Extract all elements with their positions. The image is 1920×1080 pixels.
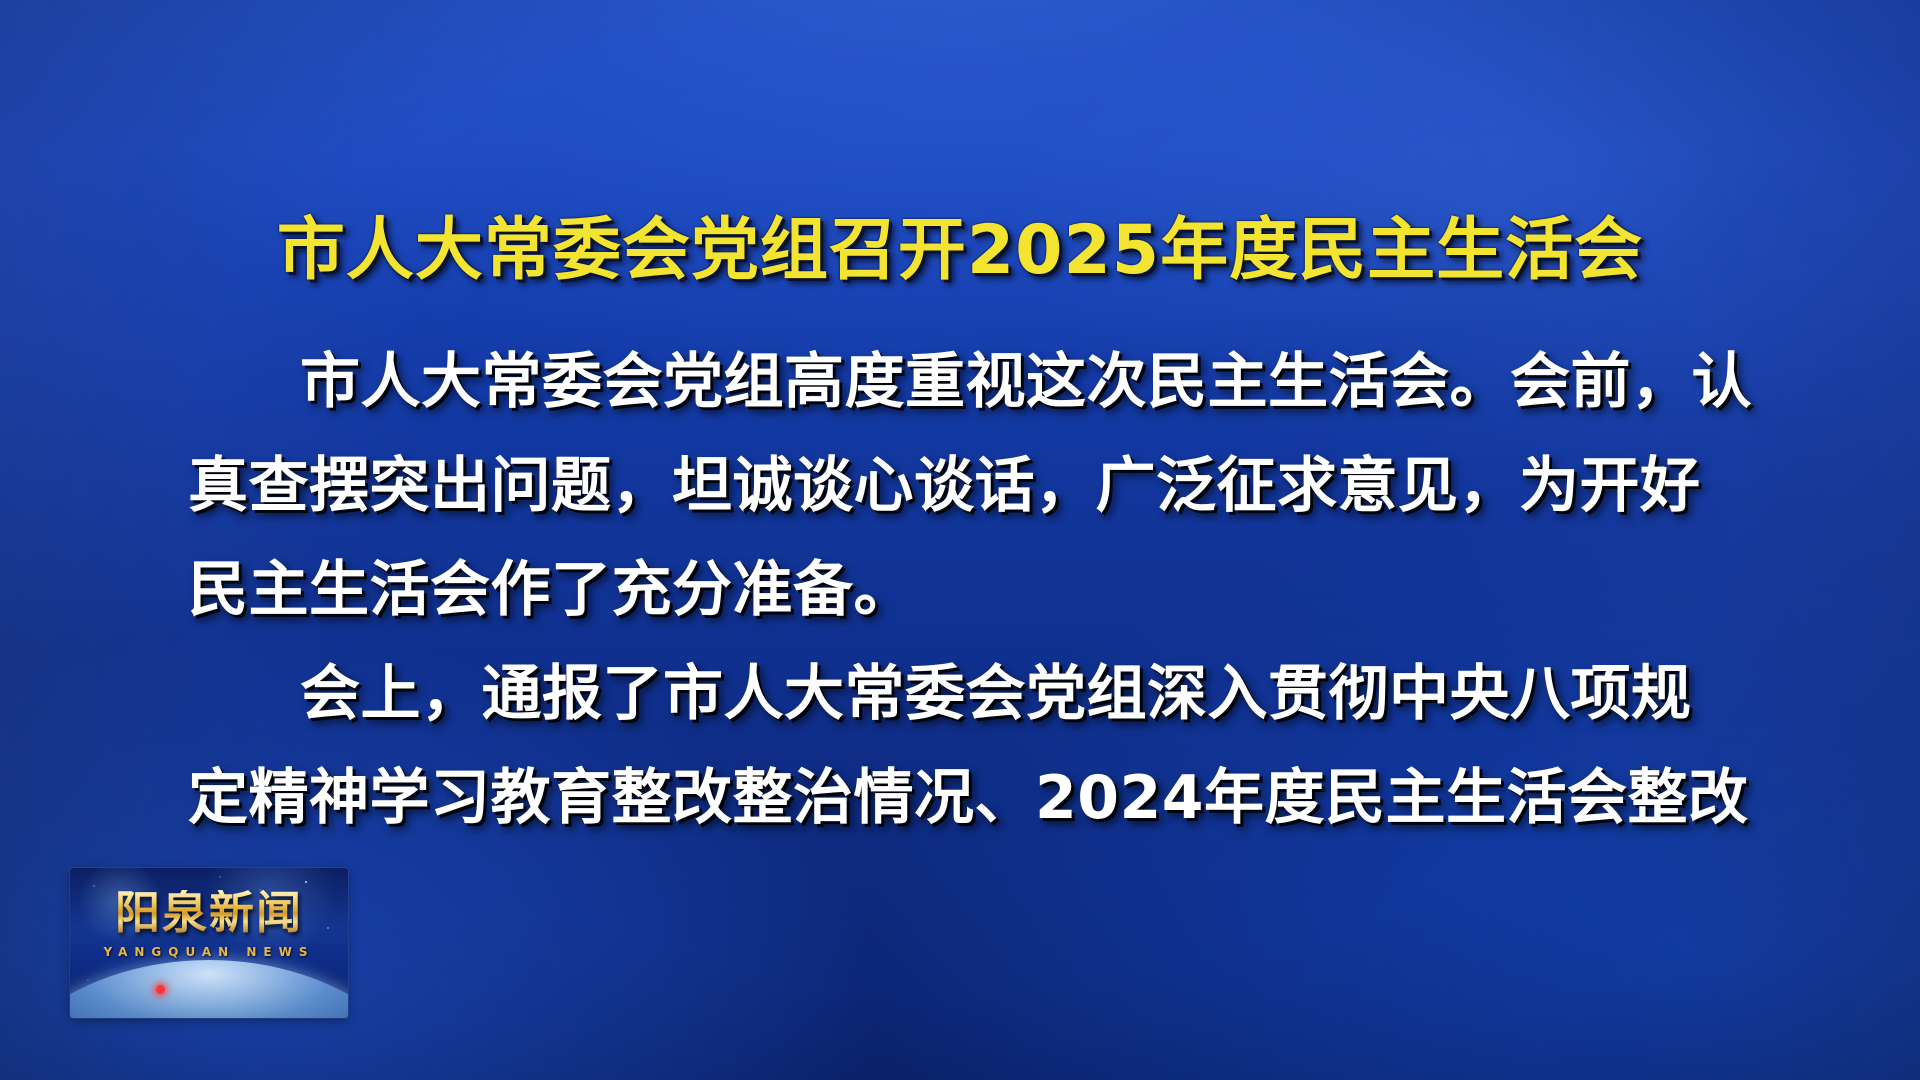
- globe-icon: [70, 960, 348, 1018]
- paragraph-2-line-2: 定精神学习教育整改整治情况、2024年度民主生活会整改: [188, 746, 1736, 850]
- paragraph-1-line-3: 民主生活会作了充分准备。: [188, 538, 1736, 642]
- paragraph-2-line-1: 会上，通报了市人大常委会党组深入贯彻中央八项规: [188, 642, 1736, 746]
- paragraph-1-line-2: 真查摆突出问题，坦诚谈心谈话，广泛征求意见，为开好: [188, 434, 1736, 538]
- broadcast-slide: 市人大常委会党组召开2025年度民主生活会 市人大常委会党组高度重视这次民主生活…: [0, 0, 1920, 1080]
- location-marker-icon: [156, 985, 165, 994]
- paragraph-1-line-1: 市人大常委会党组高度重视这次民主生活会。会前，认: [188, 330, 1736, 434]
- paragraph-1: 市人大常委会党组高度重视这次民主生活会。会前，认 真查摆突出问题，坦诚谈心谈话，…: [188, 330, 1736, 642]
- station-logo-bug: 阳泉新闻 YANGQUAN NEWS: [70, 868, 348, 1018]
- station-logo-title: 阳泉新闻: [70, 890, 348, 935]
- paragraph-2: 会上，通报了市人大常委会党组深入贯彻中央八项规 定精神学习教育整改整治情况、20…: [188, 642, 1736, 850]
- body-copy: 市人大常委会党组高度重视这次民主生活会。会前，认 真查摆突出问题，坦诚谈心谈话，…: [188, 330, 1736, 850]
- page-title: 市人大常委会党组召开2025年度民主生活会: [0, 214, 1920, 289]
- station-logo-subtitle: YANGQUAN NEWS: [70, 946, 348, 958]
